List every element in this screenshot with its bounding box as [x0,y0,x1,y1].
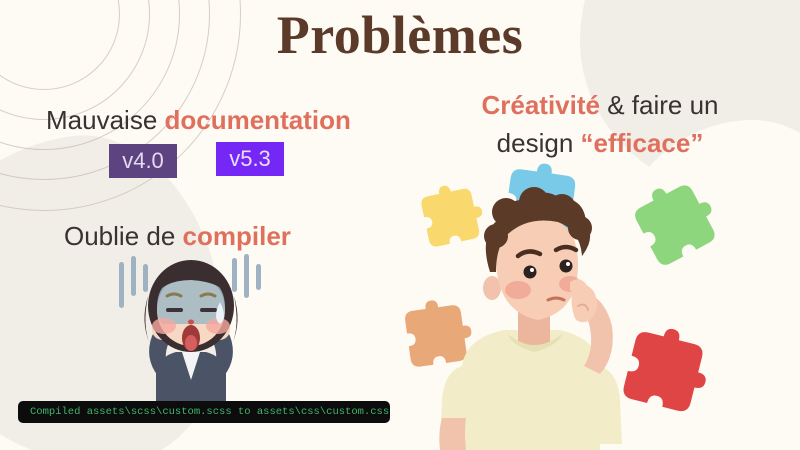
compile-accent-text: compiler [183,221,291,251]
man-hair-curl-5 [484,224,508,248]
documentation-plain-text: Mauvaise [46,105,165,135]
puzzle-piece-green [628,171,725,268]
man-eye-right [560,260,573,273]
man-eye-right-highlight [566,262,570,266]
thinking-man-illustration [400,160,800,450]
efficace-accent-text: “efficace” [581,128,704,158]
documentation-text-line: Mauvaise documentation [46,102,351,138]
woman-nose [188,320,194,325]
woman-eye-left [166,308,183,312]
man-hair-curl-4 [568,216,592,240]
version-badge-v53: v5.3 [216,142,284,176]
man-hair-curl-2 [519,187,549,217]
man-eye-left-highlight [530,268,534,272]
stressed-woman-illustration [112,252,270,404]
woman-tongue [185,335,197,351]
man-hair-curl-1 [492,198,520,226]
puzzle-piece-red [621,321,716,416]
woman-blush-left [152,318,176,334]
man-hair-curl-3 [548,194,576,222]
terminal-output-bar: Compiled assets\scss\custom.scss to asse… [18,401,390,423]
version-badge-v40: v4.0 [109,144,177,178]
woman-eye-right [200,308,217,312]
slide-canvas: Problèmes Mauvaise documentation v4.0 v5… [0,0,800,450]
man-eye-left [524,266,537,279]
motion-lines-right [232,254,261,298]
man-sleeve-right [594,366,622,444]
page-title: Problèmes [0,4,800,66]
creativity-text-line: Créativité & faire un design “efficace” [440,86,760,162]
creativity-accent-text: Créativité [481,90,600,120]
puzzle-piece-orange [403,295,475,367]
man-arm-left [439,418,466,450]
motion-lines-left [119,256,148,308]
compile-text-line: Oublie de compiler [64,218,291,254]
man-cheek-left [505,281,531,299]
terminal-output-text: Compiled assets\scss\custom.scss to asse… [18,401,390,423]
puzzle-piece-yellow [419,179,488,248]
documentation-accent-text: documentation [165,105,351,135]
compile-plain-text: Oublie de [64,221,183,251]
